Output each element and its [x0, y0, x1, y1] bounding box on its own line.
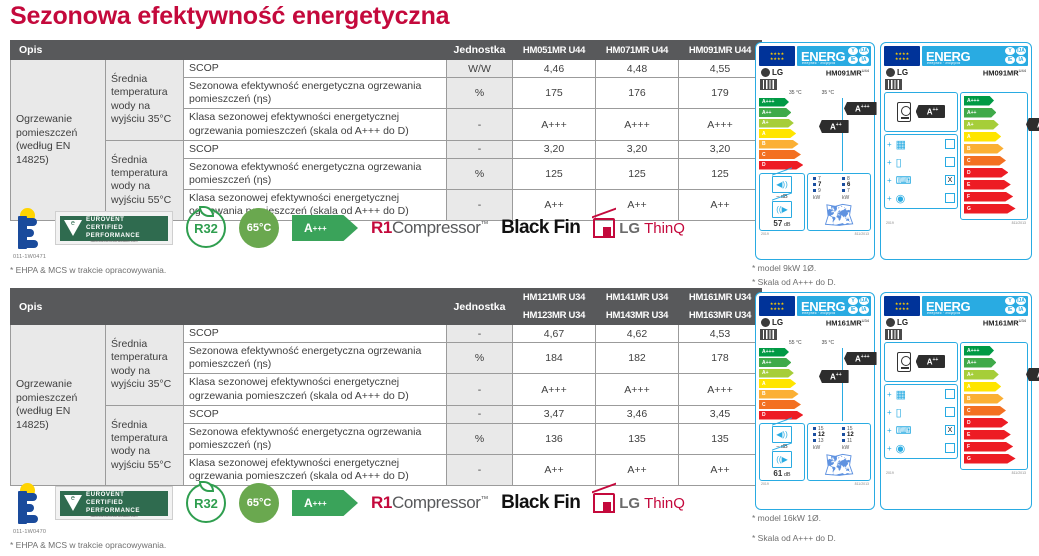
grade-area: A+++A++A+ABCD A++ A+++ [759, 348, 871, 422]
energy-class-arrow-icon: A+++ [292, 490, 358, 516]
energ-circle: IE [848, 56, 858, 64]
energ-circle: IJA [859, 297, 869, 305]
badge-row-1: e EUROVENT CERTIFIED PERFORMANCE www.eur… [12, 208, 685, 248]
scale-step-A+: A+ [759, 369, 794, 378]
eurovent-line2: CERTIFIED [86, 224, 140, 232]
package-scale-box: A+++A++A+ABCDEFG A++ [960, 342, 1028, 470]
temp-right: 35 °C [822, 340, 835, 346]
capacity-box: 7 7 9 kW 8 6 7 kW 🗺 [807, 173, 871, 231]
page-title: Sezonowa efektywność energetyczna [10, 2, 449, 31]
row-value-2: 4,55 [679, 60, 762, 78]
spec-table-1: Opis JednostkaHM051MR U44HM071MR U44HM09… [10, 40, 762, 221]
label-model-sup: U44 [1019, 68, 1026, 73]
europe-climate-map-icon: 🗺 [808, 450, 870, 480]
group-label: Ogrzewanie pomieszczeń (według EN 14825) [11, 60, 106, 221]
thinq-wordmark: ThinQ [644, 220, 685, 237]
scale-step-A+: A+ [964, 370, 999, 380]
row-value-1: A+++ [596, 374, 679, 405]
thinq-house-icon [593, 493, 615, 513]
lg-brand-text: LG [897, 68, 908, 77]
r1-compressor-logo: R1Compressor™ [371, 218, 488, 238]
efficiency-scale: A+++A++A+ABCD [759, 98, 811, 172]
temp-left: 35 °C [789, 90, 802, 96]
noise-box: ◀)) – dB ((▶ 61 dB [759, 423, 805, 481]
label-model-sup: U44 [862, 68, 869, 73]
subgroup-label-0: Średnia temperatura wody na wyjściu 35°C [106, 60, 184, 141]
label-regulation: 811/2013 [855, 232, 869, 236]
energ-language-circles: YIJAIEIA [848, 47, 869, 64]
plus-sign: + [887, 390, 892, 399]
row-value-0: 4,46 [513, 60, 596, 78]
scale-step-A: A [964, 132, 1001, 142]
label-model: HM091MRU44 [826, 68, 869, 78]
scale-step-A+++: A+++ [964, 96, 994, 106]
unit-class-tag: A++ [916, 105, 946, 119]
row-value-0: 4,67 [513, 325, 596, 343]
label-header: ★★★★★★★★ ENERG енергия · ενέργεια YIJAIE… [759, 296, 871, 316]
energ-circle: Y [848, 297, 858, 305]
label-hm161-package: ★★★★★★★★ ENERG енергия · ενέργεια YIJAIE… [880, 292, 1032, 510]
plus-sign: + [887, 426, 892, 435]
ehpa-icon [12, 208, 42, 248]
spec-table-2: Opis JednostkaHM121MR U34HM141MR U34HM16… [10, 288, 762, 486]
hot-water-tank-icon: ▯ [896, 406, 902, 419]
label-brand-row: LG HM091MRU44 [884, 66, 1028, 78]
row-value-0: A+++ [513, 374, 596, 405]
energ-circle: IJA [859, 47, 869, 55]
row-description: Sezonowa efektywność energetyczna ogrzew… [184, 158, 447, 189]
scale-step-A+++: A+++ [759, 98, 789, 107]
scale-step-C: C [759, 150, 801, 159]
label-header: ★★★★★★★★ ENERG енергия · ενέργεια YIJAIE… [884, 46, 1028, 66]
label-brand-row: LG HM161MRU34 [884, 316, 1028, 328]
energ-circle: IA [1016, 56, 1026, 64]
scale-step-B: B [964, 394, 1004, 404]
row-value-2: A++ [679, 455, 762, 486]
r32-refrigerant-icon: R32 [186, 483, 226, 523]
energ-circle: IE [1005, 56, 1015, 64]
package-efficiency-scale: A+++A++A+ABCDEFG [964, 96, 1014, 216]
row-description: SCOP [184, 405, 447, 423]
indoor-noise-icon: ◀)) [772, 176, 792, 193]
row-description: Klasa sezonowej efektywności energetyczn… [184, 109, 447, 140]
scale-step-B: B [759, 390, 799, 399]
label-model: HM091MRU44 [983, 68, 1026, 78]
label-footer: 2019 811/2013 [759, 481, 871, 486]
temperature-control-icon: ⌨ [896, 424, 912, 437]
supplementary-heater-icon: ◉ [896, 442, 906, 455]
temp-left: 55 °C [789, 340, 802, 346]
label-footer: 2019 811/2013 [884, 470, 1028, 475]
option-row[interactable]: + ▦ [887, 138, 955, 151]
heat-pump-unit-box: A++ [884, 92, 958, 132]
scale-step-A+: A+ [964, 120, 999, 130]
temperature-row: 55 °C 35 °C [789, 340, 871, 346]
option-checkbox[interactable]: X [945, 425, 955, 435]
row-unit: - [447, 374, 513, 405]
scale-step-F: F [964, 192, 1013, 202]
label-model: HM161MRU34 [983, 318, 1026, 328]
label-model-sup: U34 [1019, 318, 1026, 323]
footnote-2: * EHPA & MCS w trakcie opracowywania. [10, 540, 166, 550]
label-note-2-line2: * Skala od A+++ do D. [752, 533, 836, 543]
solar-collector-icon: ▦ [896, 138, 906, 151]
lg-logo-icon: LG [886, 318, 908, 327]
header-model-2: HM091MR U44 [679, 41, 762, 60]
option-checkbox[interactable] [945, 139, 955, 149]
header-model-bottom-1: HM143MR U34 [596, 307, 679, 325]
row-unit: % [447, 78, 513, 109]
temperature-control-icon: ⌨ [896, 174, 912, 187]
scale-step-D: D [759, 411, 803, 420]
subgroup-label-0: Średnia temperatura wody na wyjściu 35°C [106, 325, 184, 406]
temp-label: 65°C [247, 222, 272, 234]
row-value-2: 3,45 [679, 405, 762, 423]
row-value-1: 182 [596, 343, 679, 374]
package-left-column: A++ + ▦ + ▯ + ⌨ X + [884, 92, 958, 220]
energ-banner: ENERG енергия · ενέργεια YIJAIEIA [922, 296, 1028, 316]
energ-circle: Y [1005, 297, 1015, 305]
eu-flag-icon: ★★★★★★★★ [759, 46, 795, 66]
badge-code-2: 011-1W0470 [13, 529, 46, 535]
row-value-0: A+++ [513, 109, 596, 140]
scale-step-C: C [964, 156, 1006, 166]
label-regulation: 811/2013 [1012, 471, 1026, 475]
package-left-column: A++ + ▦ + ▯ + ⌨ X + [884, 342, 958, 470]
label-footer: 2019 811/2013 [884, 220, 1028, 225]
plus-sign: + [887, 176, 892, 185]
scale-step-A: A [964, 382, 1001, 392]
class-arrows: A++ A+++ [813, 348, 871, 422]
label-hm161-unit: ★★★★★★★★ ENERG енергия · ενέργεια YIJAIE… [755, 292, 875, 510]
option-row[interactable]: + ▦ [887, 388, 955, 401]
lg-wordmark: LG [619, 495, 640, 512]
scale-step-A++: A++ [964, 108, 996, 118]
row-value-1: 125 [596, 158, 679, 189]
scale-step-G: G [964, 204, 1016, 214]
package-class-arrow: A++ [1014, 96, 1024, 216]
row-unit: W/W [447, 60, 513, 78]
header-unit: Jednostka [447, 289, 513, 325]
scale-step-A+++: A+++ [759, 348, 789, 357]
header-unit: Jednostka [447, 41, 513, 60]
energ-sub: енергия · ενέργεια [927, 61, 960, 65]
energy-arrow-letter: A [304, 221, 313, 235]
energy-class-arrow-icon: A+++ [292, 215, 358, 241]
header-model-1: HM071MR U44 [596, 41, 679, 60]
label-bottom: ◀)) – dB ((▶ 57 dB 7 7 9 kW 8 6 7 kW 🗺 [759, 173, 871, 231]
row-value-2: 3,20 [679, 140, 762, 158]
row-value-2: A+++ [679, 109, 762, 140]
option-row[interactable]: + ◉ [887, 442, 955, 455]
eurovent-line1: EUROVENT [86, 216, 140, 224]
option-checkbox[interactable]: X [945, 175, 955, 185]
row-description: Klasa sezonowej efektywności energetyczn… [184, 455, 447, 486]
option-checkbox[interactable] [945, 389, 955, 399]
row-value-1: 4,48 [596, 60, 679, 78]
row-value-1: 135 [596, 423, 679, 454]
package-row: A++ + ▦ + ▯ + ⌨ X + [884, 92, 1028, 220]
heat-pump-unit-box: A++ [884, 342, 958, 382]
row-value-2: A++ [679, 190, 762, 221]
spec-table-2-wrapper: Opis JednostkaHM121MR U34HM141MR U34HM16… [10, 288, 762, 486]
row-description: SCOP [184, 60, 447, 78]
energ-circle: IA [1016, 306, 1026, 314]
plus-sign: + [887, 194, 892, 203]
eurovent-certified-icon: e EUROVENT CERTIFIED PERFORMANCE www.eur… [55, 486, 173, 520]
lg-brand-text: LG [772, 68, 783, 77]
option-row[interactable]: + ◉ [887, 192, 955, 205]
solar-collector-icon: ▦ [896, 388, 906, 401]
label-hm091-unit: ★★★★★★★★ ENERG енергия · ενέργεια YIJAIE… [755, 42, 875, 260]
row-description: Klasa sezonowej efektywności energetyczn… [184, 374, 447, 405]
header-desc: Opis [11, 41, 447, 60]
radiator-icon [885, 79, 902, 90]
energ-banner: ENERG енергия · ενέργεια YIJAIEIA [797, 46, 871, 66]
package-options: + ▦ + ▯ + ⌨ X + ◉ [884, 134, 958, 209]
label-hm091-package: ★★★★★★★★ ENERG енергия · ενέργεια YIJAIE… [880, 42, 1032, 260]
black-fin-logo: Black Fin [501, 492, 580, 514]
row-value-1: A+++ [596, 109, 679, 140]
label-bottom: ◀)) – dB ((▶ 61 dB 15 12 13 kW 15 12 11 … [759, 423, 871, 481]
label-year: 2019 [886, 471, 894, 475]
capacity-right-2: 7 [842, 188, 868, 194]
option-checkbox[interactable] [945, 193, 955, 203]
row-value-2: A+++ [679, 374, 762, 405]
efficiency-scale: A+++A++A+ABCD [759, 348, 811, 422]
row-unit: - [447, 325, 513, 343]
row-description: Sezonowa efektywność energetyczna ogrzew… [184, 78, 447, 109]
row-unit: - [447, 109, 513, 140]
row-value-0: 136 [513, 423, 596, 454]
row-value-1: 3,20 [596, 140, 679, 158]
energ-circle: Y [1005, 47, 1015, 55]
energ-banner: ENERG енергия · ενέργεια YIJAIEIA [922, 46, 1028, 66]
row-value-0: 3,47 [513, 405, 596, 423]
row-value-1: 4,62 [596, 325, 679, 343]
lg-logo-icon: LG [761, 68, 783, 77]
class-tag-right: A+++ [844, 102, 877, 116]
class-tag-left: A++ [819, 120, 849, 134]
scale-step-B: B [759, 140, 799, 149]
r1-suffix: Compressor [392, 218, 481, 237]
energy-arrow-sup: +++ [313, 499, 327, 508]
label-header: ★★★★★★★★ ENERG енергия · ενέργεια YIJAIE… [759, 46, 871, 66]
scale-step-C: C [759, 400, 801, 409]
eu-flag-icon: ★★★★★★★★ [884, 296, 920, 316]
energ-language-circles: YIJAIEIA [1005, 47, 1026, 64]
lg-logo-icon: LG [886, 68, 908, 77]
lg-brand-text: LG [897, 318, 908, 327]
label-note-2-line1: * model 16kW 1Ø. [752, 513, 821, 523]
scale-step-A++: A++ [759, 358, 791, 367]
option-row[interactable]: + ▯ [887, 406, 955, 419]
package-row: A++ + ▦ + ▯ + ⌨ X + [884, 342, 1028, 470]
row-unit: - [447, 405, 513, 423]
row-unit: - [447, 455, 513, 486]
label-footer: 2019 811/2013 [759, 231, 871, 236]
r1-suffix: Compressor [392, 493, 481, 512]
row-description: SCOP [184, 325, 447, 343]
option-checkbox[interactable] [945, 407, 955, 417]
scale-step-D: D [759, 161, 803, 170]
scale-step-D: D [964, 168, 1008, 178]
group-label: Ogrzewanie pomieszczeń (według EN 14825) [11, 325, 106, 486]
energ-circle: IA [859, 306, 869, 314]
table-row: Ogrzewanie pomieszczeń (według EN 14825)… [11, 325, 762, 343]
row-value-0: 3,20 [513, 140, 596, 158]
row-value-1: A++ [596, 455, 679, 486]
lg-brand-text: LG [772, 318, 783, 327]
noise-box: ◀)) – dB ((▶ 57 dB [759, 173, 805, 231]
temperature-65c-icon: 65°C [239, 483, 279, 523]
eurovent-foot: www.eurovent-certification.com [56, 239, 172, 243]
temperature-row: 35 °C 35 °C [789, 90, 871, 96]
header-model-0: HM051MR U44 [513, 41, 596, 60]
temp-right: 35 °C [822, 90, 835, 96]
row-value-0: A++ [513, 455, 596, 486]
lg-wordmark: LG [619, 220, 640, 237]
energ-sub: енергия · ενέργεια [802, 61, 835, 65]
energ-circle: IE [848, 306, 858, 314]
radiator-icon [885, 329, 902, 340]
row-description: Sezonowa efektywność energetyczna ogrzew… [184, 343, 447, 374]
package-class-tag: A++ [1026, 118, 1039, 132]
thinq-house-icon [593, 218, 615, 238]
package-efficiency-scale: A+++A++A+ABCDEFG [964, 346, 1014, 466]
table-row: Średnia temperatura wody na wyjściu 55°C… [11, 140, 762, 158]
scale-step-A+++: A+++ [964, 346, 994, 356]
option-row[interactable]: + ⌨ X [887, 174, 955, 187]
row-value-1: 176 [596, 78, 679, 109]
row-value-2: 178 [679, 343, 762, 374]
r32-label: R32 [194, 496, 218, 511]
row-value-1: 3,46 [596, 405, 679, 423]
europe-climate-map-icon: 🗺 [808, 200, 870, 230]
class-tag-left: A++ [819, 370, 849, 384]
header-model-top-0: HM121MR U34 [513, 289, 596, 307]
radiator-icon [760, 79, 777, 90]
capacity-left-2: 13 [813, 438, 839, 444]
outdoor-noise-icon: ((▶ [772, 201, 792, 218]
r1-compressor-logo: R1Compressor™ [371, 493, 488, 513]
row-value-0: 175 [513, 78, 596, 109]
row-description: SCOP [184, 140, 447, 158]
option-checkbox[interactable] [945, 157, 955, 167]
package-options: + ▦ + ▯ + ⌨ X + ◉ [884, 384, 958, 459]
eurovent-line1: EUROVENT [86, 491, 140, 499]
option-checkbox[interactable] [945, 443, 955, 453]
spec-table-1-wrapper: Opis JednostkaHM051MR U44HM071MR U44HM09… [10, 40, 762, 221]
row-value-0: 125 [513, 158, 596, 189]
energ-sub: енергия · ενέργεια [927, 311, 960, 315]
lg-logo-icon: LG [761, 318, 783, 327]
energ-circle: IJA [1016, 47, 1026, 55]
header-model-top-2: HM161MR U34 [679, 289, 762, 307]
plus-sign: + [887, 140, 892, 149]
class-arrows: A++ A+++ [813, 98, 871, 172]
row-value-2: 135 [679, 423, 762, 454]
scale-step-F: F [964, 442, 1013, 452]
label-note-1-line1: * model 9kW 1Ø. [752, 263, 816, 273]
label-brand-row: LG HM161MRU34 [759, 316, 871, 328]
label-header: ★★★★★★★★ ENERG енергия · ενέργεια YIJAIE… [884, 296, 1028, 316]
thinq-wordmark: ThinQ [644, 495, 685, 512]
lg-thinq-logo: LG ThinQ [593, 493, 685, 513]
r32-refrigerant-icon: R32 [186, 208, 226, 248]
eurovent-certified-icon: e EUROVENT CERTIFIED PERFORMANCE www.eur… [55, 211, 173, 245]
energ-circle: IJA [1016, 297, 1026, 305]
option-row[interactable]: + ⌨ X [887, 424, 955, 437]
table-row: Średnia temperatura wody na wyjściu 55°C… [11, 405, 762, 423]
r1-trademark: ™ [481, 219, 489, 228]
capacity-left-2: 9 [813, 188, 839, 194]
label-regulation: 811/2013 [1012, 221, 1026, 225]
scale-step-A++: A++ [964, 358, 996, 368]
label-model: HM161MRU34 [826, 318, 869, 328]
row-value-2: 125 [679, 158, 762, 189]
scale-step-A+: A+ [759, 119, 794, 128]
row-unit: - [447, 140, 513, 158]
label-brand-row: LG HM091MRU44 [759, 66, 871, 78]
heat-pump-icon [897, 352, 911, 372]
black-fin-logo: Black Fin [501, 217, 580, 239]
unit-class-tag: A++ [916, 355, 946, 369]
class-tag-right: A+++ [844, 352, 877, 366]
option-row[interactable]: + ▯ [887, 156, 955, 169]
header-model-bottom-2: HM163MR U34 [679, 307, 762, 325]
scale-step-D: D [964, 418, 1008, 428]
package-scale-box: A+++A++A+ABCDEFG A++ [960, 92, 1028, 220]
scale-step-G: G [964, 454, 1016, 464]
r1-prefix: R1 [371, 218, 392, 237]
energ-language-circles: YIJAIEIA [848, 297, 869, 314]
energ-circle: IE [1005, 306, 1015, 314]
r1-trademark: ™ [481, 494, 489, 503]
energ-circle: IA [859, 56, 869, 64]
radiator-icon [760, 329, 777, 340]
outdoor-noise-value: 61 dB [773, 469, 790, 478]
footnote-1: * EHPA & MCS w trakcie opracowywania. [10, 265, 166, 275]
header-model-bottom-0: HM123MR U34 [513, 307, 596, 325]
capacity-right-2: 11 [842, 438, 868, 444]
eurovent-foot: www.eurovent-certification.com [56, 514, 172, 518]
row-unit: % [447, 158, 513, 189]
energ-sub: енергия · ενέργεια [802, 311, 835, 315]
r32-label: R32 [194, 221, 218, 236]
plus-sign: + [887, 408, 892, 417]
row-value-2: 4,53 [679, 325, 762, 343]
row-unit: % [447, 343, 513, 374]
label-regulation: 811/2013 [855, 482, 869, 486]
label-year: 2019 [761, 232, 769, 236]
energ-banner: ENERG енергия · ενέργεια YIJAIEIA [797, 296, 871, 316]
scale-step-A++: A++ [759, 108, 791, 117]
lg-thinq-logo: LG ThinQ [593, 218, 685, 238]
grade-area: A+++A++A+ABCD A++ A+++ [759, 98, 871, 172]
header-desc: Opis [11, 289, 447, 325]
energy-arrow-sup: +++ [313, 224, 327, 233]
supplementary-heater-icon: ◉ [896, 192, 906, 205]
temp-label: 65°C [247, 497, 272, 509]
r1-prefix: R1 [371, 493, 392, 512]
eurovent-line2: CERTIFIED [86, 499, 140, 507]
capacity-box: 15 12 13 kW 15 12 11 kW 🗺 [807, 423, 871, 481]
indoor-noise-icon: ◀)) [772, 426, 792, 443]
row-value-2: 179 [679, 78, 762, 109]
scale-step-A: A [759, 379, 796, 388]
package-class-arrow: A++ [1014, 346, 1024, 466]
